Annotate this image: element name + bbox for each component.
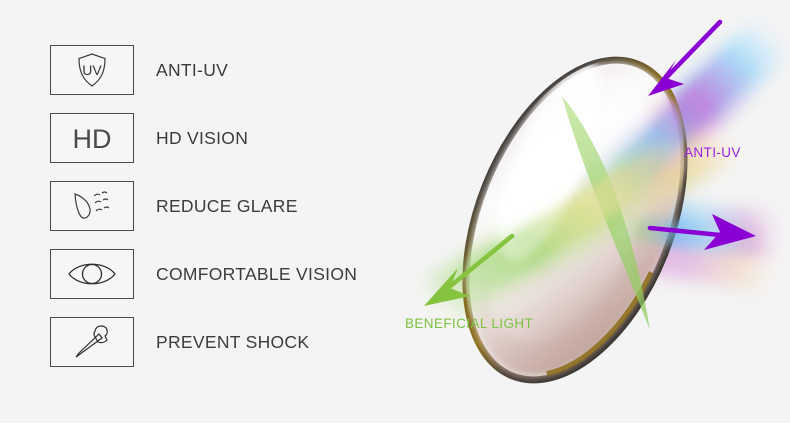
feature-label-hd-vision: HD VISION [156,128,248,149]
label-anti-uv: ANTI-UV [684,145,741,160]
uv-shield-icon: UV [50,45,134,95]
feature-label-anti-uv: ANTI-UV [156,60,228,81]
feature-label-prevent-shock: PREVENT SHOCK [156,332,309,353]
eye-icon [50,249,134,299]
infographic-root: UV ANTI-UV HD HD VISION [0,0,790,440]
hammer-icon [50,317,134,367]
feature-label-reduce-glare: REDUCE GLARE [156,196,298,217]
coated-lens-diagram [400,0,790,440]
reduce-glare-icon [50,181,134,231]
uv-icon-text: UV [82,62,102,78]
hd-icon-text: HD [73,124,112,154]
feature-label-comfortable-vision: COMFORTABLE VISION [156,264,357,285]
hd-text-icon: HD [50,113,134,163]
label-beneficial-light: BENEFICIAL LIGHT [405,316,533,331]
bottom-white-strip [0,423,790,440]
